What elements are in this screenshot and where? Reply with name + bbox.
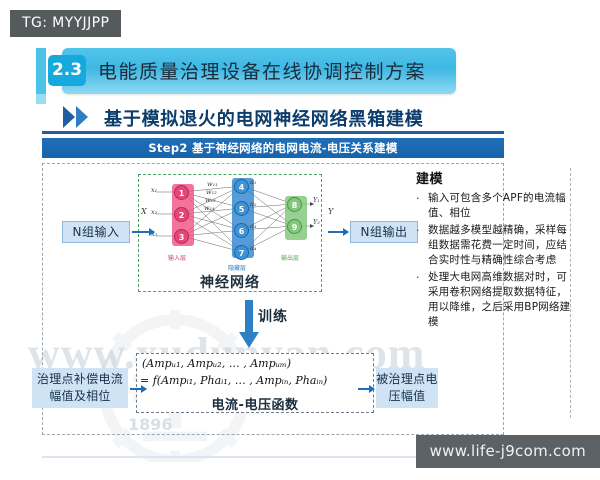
output-node-9: 9 — [287, 219, 302, 234]
sub-section-underline — [42, 131, 504, 134]
input-node-1: 1 — [174, 185, 189, 200]
sub-section-title: 基于模拟退火的电网神经网络黑箱建模 — [104, 105, 424, 131]
note-item: · 处理大电网高维数据对时，可采用卷积网络提取数据特征，用以降维，之后采用BP网… — [416, 270, 576, 330]
hidden-symbol-a3: a₃ — [250, 222, 256, 230]
slide-canvas: www.xudunyan.com 1896 TG: MYYJJPP 2.3 电能… — [0, 0, 600, 480]
modeling-notes-panel: 建模 · 输入可包含多个APF的电流幅值、相位 · 数据越多模型越精确，采样每组… — [416, 168, 576, 332]
header-accent-bar-secondary — [36, 94, 46, 104]
input-group-box: N组输入 — [62, 221, 130, 243]
sub-section-header: 基于模拟退火的电网神经网络黑箱建模 — [62, 104, 462, 132]
training-label: 训练 — [258, 306, 288, 326]
weight-symbol-w11: w₁₁ — [207, 180, 218, 188]
chevron-right-icon — [62, 105, 96, 129]
hidden-symbol-a1: a₁ — [250, 178, 256, 186]
output-group-symbol-Y: Y — [328, 207, 333, 216]
arrow-input-to-network — [132, 231, 154, 233]
weight-symbol-w14: w₁₄ — [204, 204, 215, 212]
note-text: 数据越多模型越精确，采样每组数据需花费一定时间，应结合实时性与精确性综合考虑 — [428, 223, 576, 268]
hidden-symbol-a2: a₂ — [250, 200, 256, 208]
formula-line-1: (Ampᵤ₁, Ampᵤ₂, … , Ampᵤₘ) — [142, 357, 291, 370]
compensation-point-box: 治理点补偿电流幅值及相位 — [32, 368, 128, 408]
input-group-symbol-X: X — [141, 207, 147, 216]
bullet-icon: · — [416, 270, 428, 330]
output-node-8: 8 — [287, 197, 302, 212]
hidden-layer-label: 隐藏层 — [228, 263, 246, 272]
note-text: 处理大电网高维数据对时，可采用卷积网络提取数据特征，用以降维，之后采用BP网络建… — [428, 270, 576, 330]
note-text: 输入可包含多个APF的电流幅值、相位 — [428, 191, 576, 221]
site-url-tag: www.life-j9com.com — [416, 435, 600, 468]
input-node-3: 3 — [174, 229, 189, 244]
input-symbol-x1: x₁ — [151, 186, 157, 194]
output-symbol-Y1: Y₁ — [313, 196, 320, 204]
note-item: · 数据越多模型越精确，采样每组数据需花费一定时间，应结合实时性与精确性综合考虑 — [416, 223, 576, 268]
bullet-icon: · — [416, 191, 428, 221]
bullet-icon: · — [416, 223, 428, 268]
step-header-bar: Step2 基于神经网络的电网电流-电压关系建模 — [42, 138, 504, 158]
input-layer-label: 输入层 — [168, 253, 186, 262]
arrow-formula-to-right-box — [358, 388, 374, 390]
governed-point-voltage-box: 被治理点电压幅值 — [376, 368, 438, 408]
notes-title: 建模 — [416, 168, 576, 187]
hidden-node-6: 6 — [234, 223, 249, 238]
input-node-2: 2 — [174, 207, 189, 222]
page-title: 电能质量治理设备在线协调控制方案 — [98, 57, 426, 84]
hidden-node-4: 4 — [234, 179, 249, 194]
notes-divider — [570, 168, 571, 418]
hidden-node-5: 5 — [234, 201, 249, 216]
output-symbol-Y2: Y₂ — [313, 218, 320, 226]
arrow-left-box-to-formula — [130, 388, 146, 390]
training-arrow-icon — [238, 300, 260, 350]
arrow-network-to-output — [328, 231, 348, 233]
tg-channel-tag: TG: MYYJJPP — [10, 10, 121, 37]
weight-symbol-w13: w₁₃ — [205, 196, 216, 204]
header-accent-bar — [36, 48, 46, 94]
output-group-box: N组输出 — [350, 221, 418, 243]
input-symbol-x2: x₂ — [151, 208, 157, 216]
weight-symbol-w12: w₁₂ — [206, 188, 217, 196]
hidden-node-7: 7 — [234, 245, 249, 260]
section-header: 2.3 电能质量治理设备在线协调控制方案 — [36, 48, 456, 94]
formula-caption: 电流-电压函数 — [136, 394, 374, 413]
hidden-symbol-a4: a₄ — [250, 244, 256, 252]
note-item: · 输入可包含多个APF的电流幅值、相位 — [416, 191, 576, 221]
output-layer-label: 输出层 — [281, 253, 299, 262]
section-number-badge: 2.3 — [48, 55, 86, 86]
neural-network-caption: 神经网络 — [138, 272, 322, 292]
formula-line-2: = f(Ampᵢ₁, Phaᵢ₁, … , Ampᵢₙ, Phaᵢₙ) — [140, 374, 327, 387]
